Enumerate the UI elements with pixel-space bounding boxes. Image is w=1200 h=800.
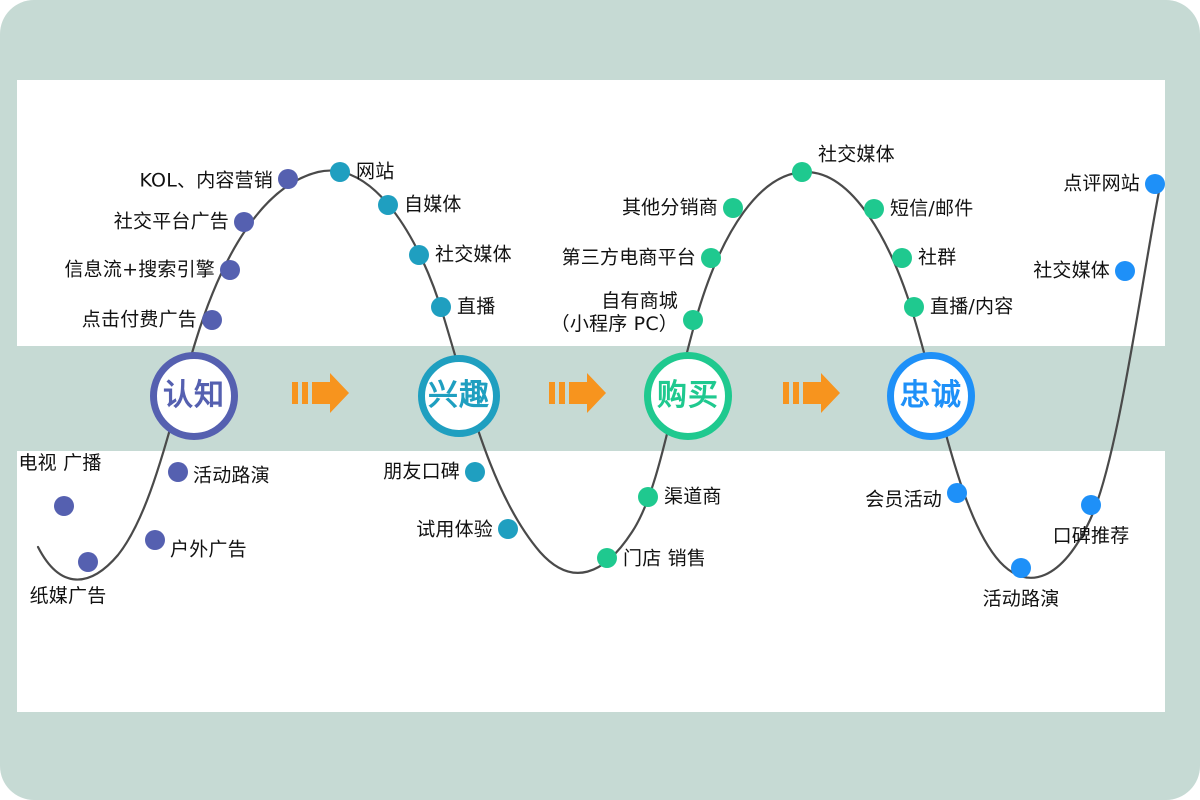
touchpoint-label: 社交媒体 <box>435 243 512 266</box>
touchpoint-label: 社交媒体 <box>1033 259 1110 282</box>
touchpoint-dot[interactable] <box>234 212 254 232</box>
touchpoint-dot[interactable] <box>409 245 429 265</box>
stage-node-loyalty[interactable]: 忠诚 <box>887 352 975 440</box>
touchpoint-dot[interactable] <box>638 487 658 507</box>
touchpoint-label: 其他分销商 <box>622 196 718 219</box>
touchpoint-label: 点击付费广告 <box>82 308 197 331</box>
touchpoint-label: 点评网站 <box>1063 172 1140 195</box>
stage-node-interest[interactable]: 兴趣 <box>418 355 500 437</box>
touchpoint-dot[interactable] <box>220 260 240 280</box>
touchpoint-dot[interactable] <box>145 530 165 550</box>
touchpoint-label: 电视 广播 <box>18 452 101 475</box>
touchpoint-label: 短信/邮件 <box>890 197 973 220</box>
touchpoint-label: 自媒体 <box>404 193 462 216</box>
stage-node-awareness[interactable]: 认知 <box>150 352 238 440</box>
touchpoint-label: 第三方电商平台 <box>562 246 696 269</box>
touchpoint-label: 户外广告 <box>170 538 247 561</box>
touchpoint-dot[interactable] <box>378 195 398 215</box>
touchpoint-dot[interactable] <box>947 483 967 503</box>
touchpoint-dot[interactable] <box>1115 261 1135 281</box>
touchpoint-label: 渠道商 <box>664 485 722 508</box>
touchpoint-label: 社交平台广告 <box>114 210 229 233</box>
touchpoint-dot[interactable] <box>498 519 518 539</box>
arrow-awareness-interest <box>292 371 350 419</box>
touchpoint-dot[interactable] <box>465 462 485 482</box>
touchpoint-label: 试用体验 <box>416 518 493 541</box>
touchpoint-dot[interactable] <box>597 548 617 568</box>
stage-label-interest: 兴趣 <box>428 381 490 411</box>
touchpoint-label: 朋友口碑 <box>383 460 460 483</box>
touchpoint-dot[interactable] <box>54 496 74 516</box>
stage-node-purchase[interactable]: 购买 <box>644 352 732 440</box>
touchpoint-dot[interactable] <box>78 552 98 572</box>
touchpoint-dot[interactable] <box>1145 174 1165 194</box>
stage-label-loyalty: 忠诚 <box>900 381 962 411</box>
touchpoint-label: 直播 <box>457 295 495 318</box>
touchpoint-dot[interactable] <box>792 162 812 182</box>
touchpoint-dot[interactable] <box>683 310 703 330</box>
touchpoint-label: 信息流+搜索引擎 <box>64 258 215 281</box>
stage-label-awareness: 认知 <box>163 381 225 411</box>
touchpoint-dot[interactable] <box>723 198 743 218</box>
touchpoint-dot[interactable] <box>431 297 451 317</box>
touchpoint-label: 活动路演 <box>193 464 270 487</box>
touchpoint-label: 自有商城（小程序 PC） <box>551 290 678 336</box>
journey-diagram: 电视 广播纸媒广告户外广告活动路演点击付费广告信息流+搜索引擎社交平台广告KOL… <box>0 0 1200 800</box>
touchpoint-label: 直播/内容 <box>930 295 1013 318</box>
stage-label-purchase: 购买 <box>657 381 719 411</box>
touchpoint-label: 社交媒体 <box>818 143 895 166</box>
touchpoint-dot[interactable] <box>278 169 298 189</box>
touchpoint-label: 网站 <box>356 160 394 183</box>
touchpoint-dot[interactable] <box>1081 495 1101 515</box>
touchpoint-label: 纸媒广告 <box>30 585 107 608</box>
touchpoint-dot[interactable] <box>330 162 350 182</box>
arrow-interest-purchase <box>549 371 607 419</box>
touchpoint-dot[interactable] <box>1011 558 1031 578</box>
touchpoint-dot[interactable] <box>892 248 912 268</box>
touchpoint-dot[interactable] <box>904 297 924 317</box>
touchpoint-dot[interactable] <box>202 310 222 330</box>
touchpoint-label: 社群 <box>918 246 956 269</box>
touchpoint-label: 口碑推荐 <box>1053 525 1130 548</box>
arrow-purchase-loyalty <box>783 371 841 419</box>
touchpoint-label: 活动路演 <box>983 588 1060 611</box>
touchpoint-label: 门店 销售 <box>623 547 706 570</box>
touchpoint-dot[interactable] <box>168 462 188 482</box>
touchpoint-label: 会员活动 <box>865 488 942 511</box>
touchpoint-dot[interactable] <box>864 199 884 219</box>
touchpoint-label: KOL、内容营销 <box>139 169 273 192</box>
touchpoint-dot[interactable] <box>701 248 721 268</box>
